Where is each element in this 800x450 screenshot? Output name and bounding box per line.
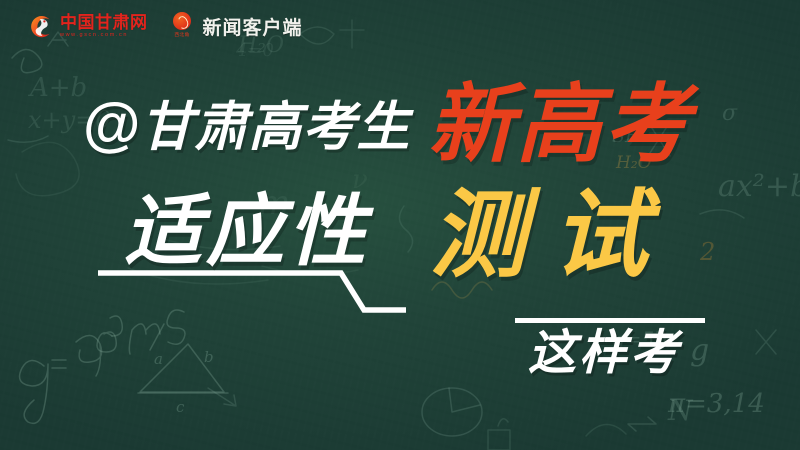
- gansu-logo-url: www.gscn.com.cn: [60, 33, 148, 39]
- gansu-logo-name: 中国甘肃网: [60, 14, 148, 31]
- northwest-seal-icon: 西北角: [170, 12, 195, 40]
- gansu-logo-text: 中国甘肃网 www.gscn.com.cn: [60, 14, 148, 39]
- headline-line-one: @ 甘肃高考生: [82, 96, 411, 155]
- headline-block: @ 甘肃高考生 新高考 适应性 测试 这样考: [0, 0, 800, 450]
- site-header: 中国甘肃网 www.gscn.com.cn 西北角 新闻客户端: [0, 0, 800, 52]
- tagline-text: 这样考: [528, 330, 681, 378]
- news-client-label: 新闻客户端: [203, 13, 303, 40]
- northwest-seal-label: 西北角: [174, 31, 189, 38]
- at-symbol: @: [82, 96, 139, 155]
- subject-white-text: 适应性: [124, 192, 370, 270]
- news-client-logo[interactable]: 西北角 新闻客户端: [170, 12, 303, 40]
- emphasis-yellow-text: 测试: [430, 188, 674, 284]
- audience-label: 甘肃高考生: [141, 101, 411, 154]
- gansu-net-logo[interactable]: 中国甘肃网 www.gscn.com.cn: [26, 13, 148, 40]
- poster-canvas: A+b x+y=0 H₂O SH H₂O σ ax²+bx+c 2 g g=5b: [0, 0, 800, 450]
- emphasis-red-text: 新高考: [428, 82, 692, 168]
- logo-group: 中国甘肃网 www.gscn.com.cn 西北角 新闻客户端: [26, 12, 303, 40]
- gansu-swan-mark-icon: [26, 13, 53, 40]
